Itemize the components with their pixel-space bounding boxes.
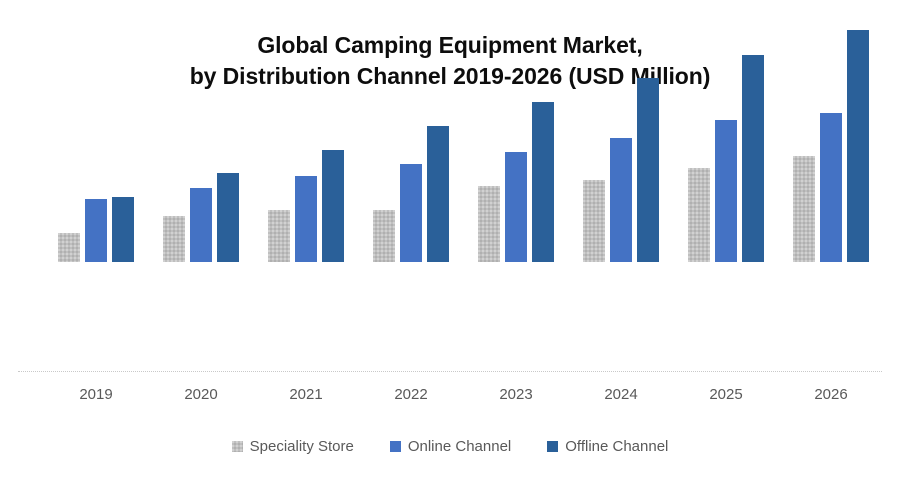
bar-online-2023[interactable]: [505, 152, 527, 262]
bar-chart: Global Camping Equipment Market, by Dist…: [0, 0, 900, 482]
x-axis-tick-label: 2026: [781, 386, 881, 403]
bar-offline-2025[interactable]: [742, 55, 764, 262]
x-axis-tick-label: 2022: [361, 386, 461, 403]
x-axis-tick-label: 2025: [676, 386, 776, 403]
legend-item-offline[interactable]: Offline Channel: [547, 438, 668, 455]
bar-speciality-2019[interactable]: [58, 233, 80, 262]
bar-offline-2019[interactable]: [112, 197, 134, 262]
legend-swatch-icon: [232, 441, 243, 452]
bar-group-bars: [163, 0, 239, 262]
legend-item-label: Offline Channel: [565, 438, 668, 455]
bar-group: [688, 0, 764, 262]
legend-item-online[interactable]: Online Channel: [390, 438, 511, 455]
x-axis-tick-label: 2023: [466, 386, 566, 403]
bar-group: [163, 0, 239, 262]
bar-offline-2026[interactable]: [847, 30, 869, 262]
bar-group: [268, 0, 344, 262]
bar-online-2020[interactable]: [190, 188, 212, 262]
chart-legend: Speciality StoreOnline ChannelOffline Ch…: [0, 438, 900, 455]
legend-swatch-icon: [547, 441, 558, 452]
bar-online-2025[interactable]: [715, 120, 737, 262]
legend-item-label: Online Channel: [408, 438, 511, 455]
bar-group: [58, 0, 134, 262]
bar-speciality-2020[interactable]: [163, 216, 185, 262]
bar-group-bars: [58, 0, 134, 262]
bar-group: [583, 0, 659, 262]
legend-swatch-icon: [390, 441, 401, 452]
bar-offline-2024[interactable]: [637, 78, 659, 262]
bar-online-2024[interactable]: [610, 138, 632, 262]
x-axis-tick-label: 2019: [46, 386, 146, 403]
bar-group-bars: [478, 0, 554, 262]
bar-online-2021[interactable]: [295, 176, 317, 262]
x-axis-tick-label: 2024: [571, 386, 671, 403]
bar-online-2019[interactable]: [85, 199, 107, 262]
bar-offline-2022[interactable]: [427, 126, 449, 262]
x-axis-tick-label: 2020: [151, 386, 251, 403]
bar-online-2026[interactable]: [820, 113, 842, 262]
bar-offline-2020[interactable]: [217, 173, 239, 262]
x-axis-baseline: [18, 371, 882, 372]
bar-group-bars: [373, 0, 449, 262]
bar-speciality-2022[interactable]: [373, 210, 395, 262]
bar-group-bars: [268, 0, 344, 262]
bar-offline-2021[interactable]: [322, 150, 344, 262]
bar-group: [793, 0, 869, 262]
bar-offline-2023[interactable]: [532, 102, 554, 262]
plot-area: 20192020202120222023202420252026: [0, 0, 900, 372]
bar-speciality-2026[interactable]: [793, 156, 815, 262]
legend-item-speciality[interactable]: Speciality Store: [232, 438, 354, 455]
bar-online-2022[interactable]: [400, 164, 422, 262]
bar-speciality-2023[interactable]: [478, 186, 500, 262]
bar-group-bars: [688, 0, 764, 262]
x-axis-tick-label: 2021: [256, 386, 356, 403]
bar-group-bars: [793, 0, 869, 262]
bar-speciality-2024[interactable]: [583, 180, 605, 262]
bar-group: [373, 0, 449, 262]
bar-speciality-2025[interactable]: [688, 168, 710, 262]
legend-item-label: Speciality Store: [250, 438, 354, 455]
bar-speciality-2021[interactable]: [268, 210, 290, 262]
bar-group: [478, 0, 554, 262]
bar-group-bars: [583, 0, 659, 262]
